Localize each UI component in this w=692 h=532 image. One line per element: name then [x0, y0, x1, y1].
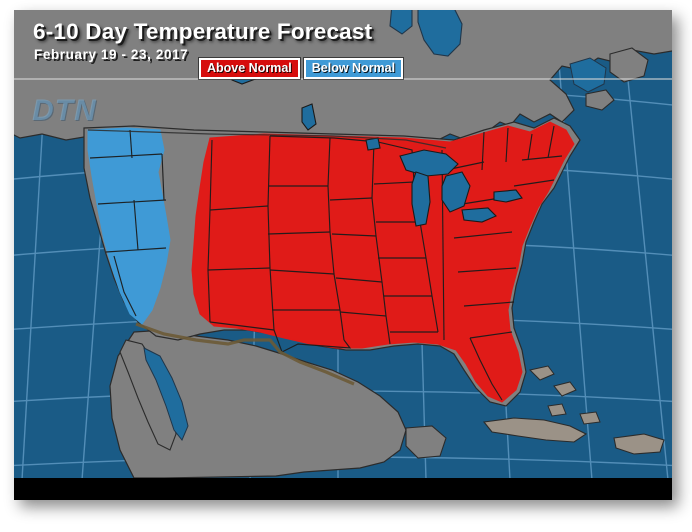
- us-mexico-border: [136, 324, 354, 384]
- forecast-map-canvas[interactable]: 6-10 Day Temperature Forecast February 1…: [14, 10, 672, 478]
- map-bottom-bar: [14, 478, 672, 500]
- legend: Above Normal Below Normal: [199, 58, 403, 79]
- forecast-map-frame: 6-10 Day Temperature Forecast February 1…: [14, 10, 672, 500]
- legend-item-below-normal[interactable]: Below Normal: [304, 58, 403, 79]
- legend-item-above-normal[interactable]: Above Normal: [199, 58, 300, 79]
- forecast-date-range: February 19 - 23, 2017: [34, 48, 188, 62]
- country-border-layer: [14, 10, 672, 478]
- us-canada-border: [88, 130, 446, 148]
- page-title: 6-10 Day Temperature Forecast: [33, 21, 372, 44]
